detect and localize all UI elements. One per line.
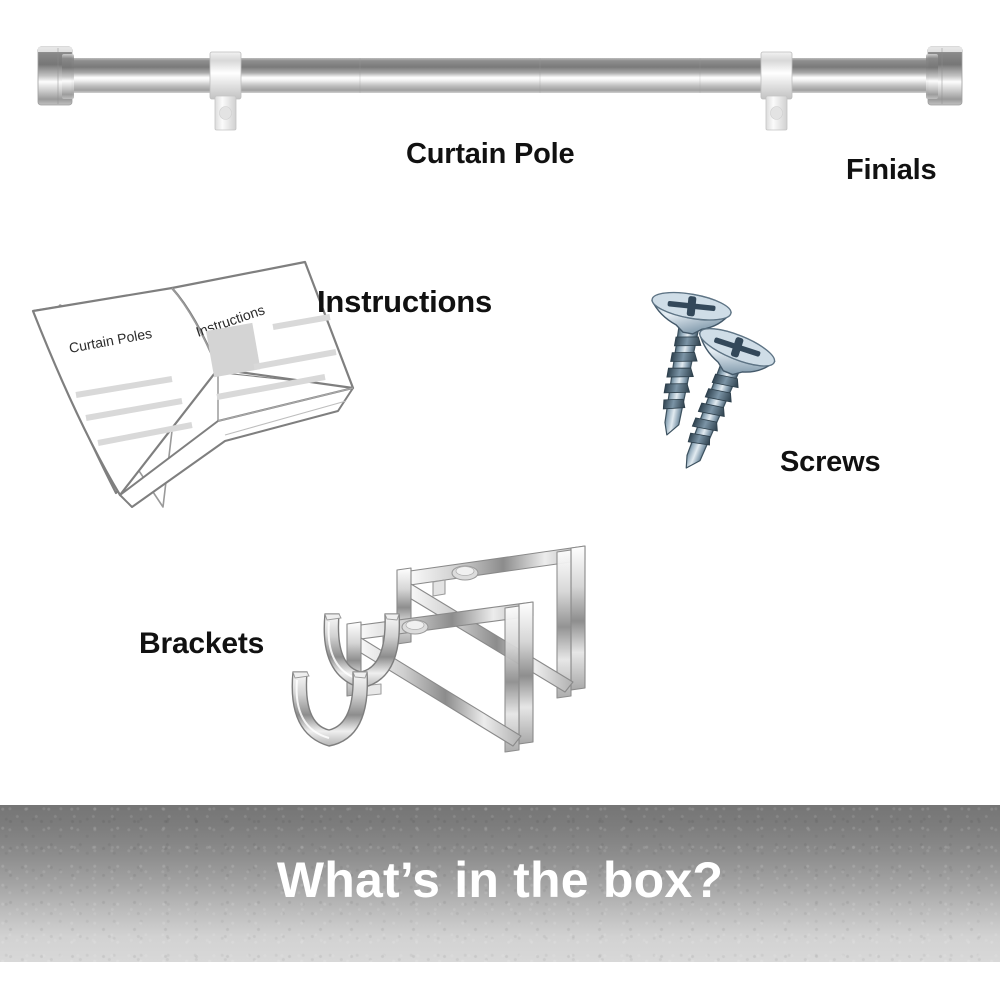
label-finials: Finials bbox=[846, 156, 936, 185]
booklet-image-block bbox=[206, 323, 260, 377]
label-instructions: Instructions bbox=[317, 286, 492, 317]
brackets-illustration bbox=[285, 530, 625, 780]
bracket-cradle-front bbox=[292, 672, 367, 746]
pole-bracket-right bbox=[761, 52, 792, 130]
product-contents-illustration: Curtain Pole Finials bbox=[0, 0, 1000, 1000]
banner-title: What’s in the box? bbox=[0, 855, 1000, 905]
label-brackets: Brackets bbox=[139, 629, 264, 659]
label-curtain-pole: Curtain Pole bbox=[406, 140, 574, 169]
pole-tube bbox=[62, 58, 938, 93]
label-screws: Screws bbox=[780, 448, 880, 477]
finial-right bbox=[926, 47, 962, 105]
finial-left bbox=[38, 47, 74, 105]
pole-bracket-left bbox=[210, 52, 241, 130]
bottom-banner: What’s in the box? bbox=[0, 805, 1000, 962]
